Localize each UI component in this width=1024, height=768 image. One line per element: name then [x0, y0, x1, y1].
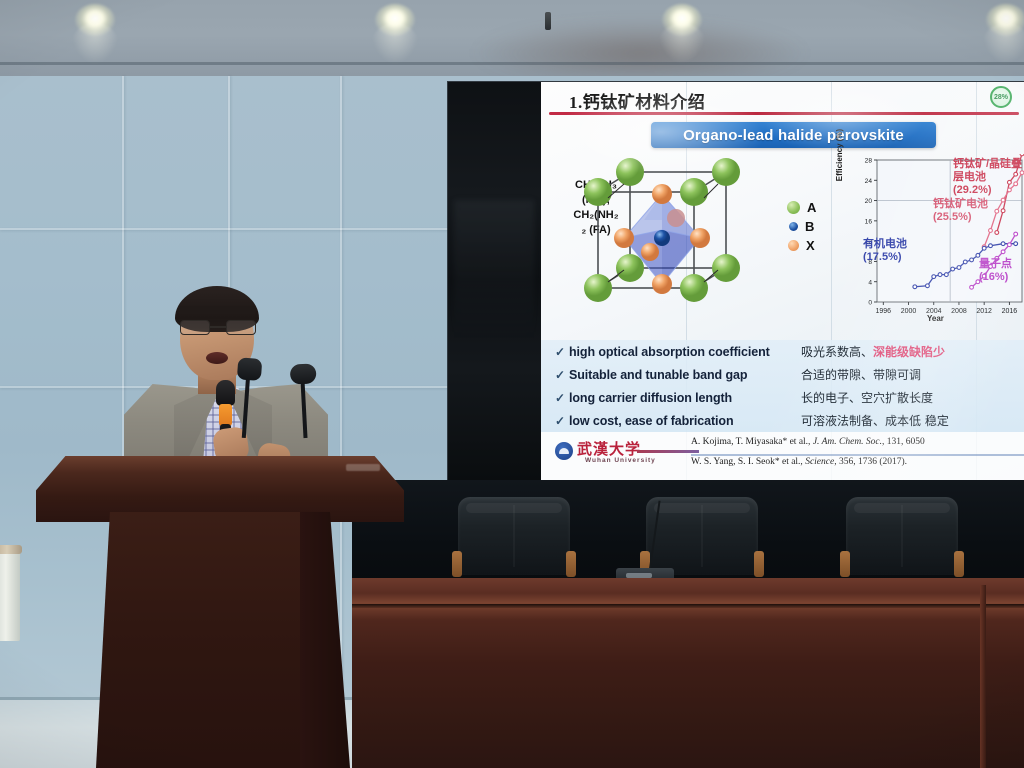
check-icon: ✓ — [555, 368, 569, 382]
svg-text:16: 16 — [865, 218, 873, 225]
screenshot-root: 1.钙钛矿材料介绍 28% Organo-lead halide perovsk… — [0, 0, 1024, 768]
chart-annotation-tandem: 钙钛矿/晶硅叠 层电池 (29.2%) — [953, 158, 1024, 197]
check-icon: ✓ — [555, 414, 569, 428]
chart-annotation-quantum-dot: 量子点 (16%) — [979, 258, 1012, 284]
bullet-row: ✓ low cost, ease of fabrication 可溶液法制备、成… — [541, 409, 1024, 432]
svg-text:2004: 2004 — [926, 308, 942, 315]
ann-pero-l2: (25.5%) — [933, 211, 988, 224]
chair — [452, 497, 576, 583]
svg-text:2008: 2008 — [951, 308, 967, 315]
speaker-mouth — [206, 352, 228, 364]
legend-label-b: B — [805, 219, 814, 234]
eyeglasses-icon — [180, 320, 256, 335]
chart-annotation-perovskite: 钙钛矿电池 (25.5%) — [933, 198, 988, 224]
bullet-text-en: long carrier diffusion length — [569, 391, 801, 405]
citation-1-authors: A. Kojima, T. Miyasaka* et al., — [691, 437, 813, 447]
screen-dark-area — [448, 82, 543, 480]
citation-1-tail: , 131, 6050 — [882, 437, 925, 447]
structure-legend: A B X — [787, 198, 835, 255]
check-icon: ✓ — [555, 391, 569, 405]
svg-text:0: 0 — [868, 300, 872, 307]
citation-1: A. Kojima, T. Miyasaka* et al., J. Am. C… — [691, 437, 925, 447]
bullet-row: ✓ long carrier diffusion length 长的电子、空穴扩… — [541, 386, 1024, 409]
microphone-head — [216, 380, 235, 406]
perovskite-crystal-diagram — [546, 158, 776, 328]
citation-2-authors: W. S. Yang, S. I. Seok* et al., — [691, 457, 805, 467]
ann-tandem-l2: 层电池 (29.2%) — [953, 171, 1024, 197]
legend-dot-a-icon — [787, 201, 800, 214]
glasses-lens-left — [180, 320, 210, 335]
chair-armrest — [754, 551, 764, 577]
chart-annotation-organic: 有机电池 (17.5%) — [863, 238, 907, 264]
check-icon: ✓ — [555, 345, 569, 359]
ann-org-l2: (17.5%) — [863, 251, 907, 264]
ann-qd-l2: (16%) — [979, 271, 1012, 284]
ceiling-stain — [470, 18, 810, 76]
ann-pero-l1: 钙钛矿电池 — [933, 198, 988, 211]
speaker-person — [118, 292, 348, 472]
glasses-lens-right — [226, 320, 256, 335]
svg-text:4: 4 — [868, 279, 872, 286]
footer-divider — [691, 454, 1024, 456]
university-name-en: Wuhan University — [585, 457, 656, 464]
chair — [840, 497, 964, 583]
bullet-text-cn-highlight: 深能级缺陷少 — [873, 343, 945, 360]
trash-bin — [0, 549, 20, 641]
legend-item-x: X — [787, 236, 835, 255]
glasses-bridge — [210, 326, 226, 328]
university-crest-icon — [555, 442, 573, 460]
legend-dot-x-icon — [788, 240, 799, 251]
ann-qd-l1: 量子点 — [979, 258, 1012, 271]
svg-text:24: 24 — [865, 178, 873, 185]
slide-content: 1.钙钛矿材料介绍 28% Organo-lead halide perovsk… — [541, 82, 1024, 480]
bullet-list: ✓ high optical absorption coefficient 吸光… — [541, 340, 1024, 432]
chair-armrest — [452, 551, 462, 577]
nrel-efficiency-chart: Efficiency (%) Year NREL 048121620242819… — [841, 154, 1024, 334]
bullet-text-cn: 合适的带隙、带隙可调 — [801, 366, 921, 383]
conference-table-groove — [352, 604, 1024, 608]
presentation-screen[interactable]: 1.钙钛矿材料介绍 28% Organo-lead halide perovsk… — [448, 82, 1024, 480]
bullet-text-cn: 长的电子、空穴扩散长度 — [801, 389, 933, 406]
ceiling-light — [375, 4, 415, 36]
university-name-cn: 武漢大学 — [577, 438, 641, 459]
legend-item-b: B — [787, 217, 835, 236]
legend-dot-b-icon — [789, 222, 798, 231]
title-underline — [549, 112, 1019, 115]
sprinkler-head-icon — [545, 12, 551, 30]
chair-armrest — [840, 551, 850, 577]
conference-table-right-edge — [980, 585, 986, 768]
svg-text:2012: 2012 — [976, 308, 992, 315]
footer-accent-rule — [637, 450, 699, 453]
bullet-text-cn: 可溶液法制备、成本低 稳定 — [801, 412, 949, 429]
chair-armrest — [954, 551, 964, 577]
chair-back — [846, 497, 958, 575]
bullet-row: ✓ Suitable and tunable band gap 合适的带隙、带隙… — [541, 363, 1024, 386]
university-logo: 武漢大学 Wuhan University — [555, 436, 675, 470]
banner-label: Organo-lead halide perovskite — [683, 127, 904, 144]
chair-armrest — [566, 551, 576, 577]
bullet-row: ✓ high optical absorption coefficient 吸光… — [541, 340, 1024, 363]
bullet-text-en: high optical absorption coefficient — [569, 345, 801, 359]
trash-bin-lid — [0, 545, 22, 554]
citation-2-journal: Science — [805, 457, 834, 467]
ann-tandem-l1: 钙钛矿/晶硅叠 — [953, 158, 1024, 171]
legend-item-a: A — [787, 198, 835, 217]
bullet-text-en: Suitable and tunable band gap — [569, 368, 801, 382]
microphone-grip-orange — [219, 404, 232, 426]
citation-2-tail: , 356, 1736 (2017). — [834, 457, 907, 467]
bullet-text-cn: 吸光系数高、 — [801, 343, 873, 360]
svg-text:1996: 1996 — [876, 308, 892, 315]
slide-banner: Organo-lead halide perovskite — [651, 122, 936, 148]
slide-title: 1.钙钛矿材料介绍 — [569, 88, 705, 113]
citation-2: W. S. Yang, S. I. Seok* et al., Science,… — [691, 457, 907, 467]
ann-org-l1: 有机电池 — [863, 238, 907, 251]
legend-label-a: A — [807, 200, 816, 215]
ceiling-light — [662, 4, 702, 36]
svg-text:2016: 2016 — [1002, 308, 1018, 315]
svg-text:28: 28 — [865, 158, 873, 165]
ceiling-light — [75, 4, 115, 36]
ceiling-light — [986, 4, 1024, 36]
svg-text:20: 20 — [865, 198, 873, 205]
efficiency-logo-icon: 28% — [990, 86, 1012, 108]
ceiling-seam — [0, 62, 1024, 65]
chair-back — [458, 497, 570, 575]
slide-footer: 武漢大学 Wuhan University A. Kojima, T. Miya… — [541, 432, 1024, 480]
chair-back — [646, 497, 758, 575]
podium-column — [96, 512, 328, 768]
citation-1-journal: J. Am. Chem. Soc. — [813, 437, 882, 447]
legend-label-x: X — [806, 238, 815, 253]
bullet-text-en: low cost, ease of fabrication — [569, 414, 801, 428]
svg-text:2000: 2000 — [901, 308, 917, 315]
